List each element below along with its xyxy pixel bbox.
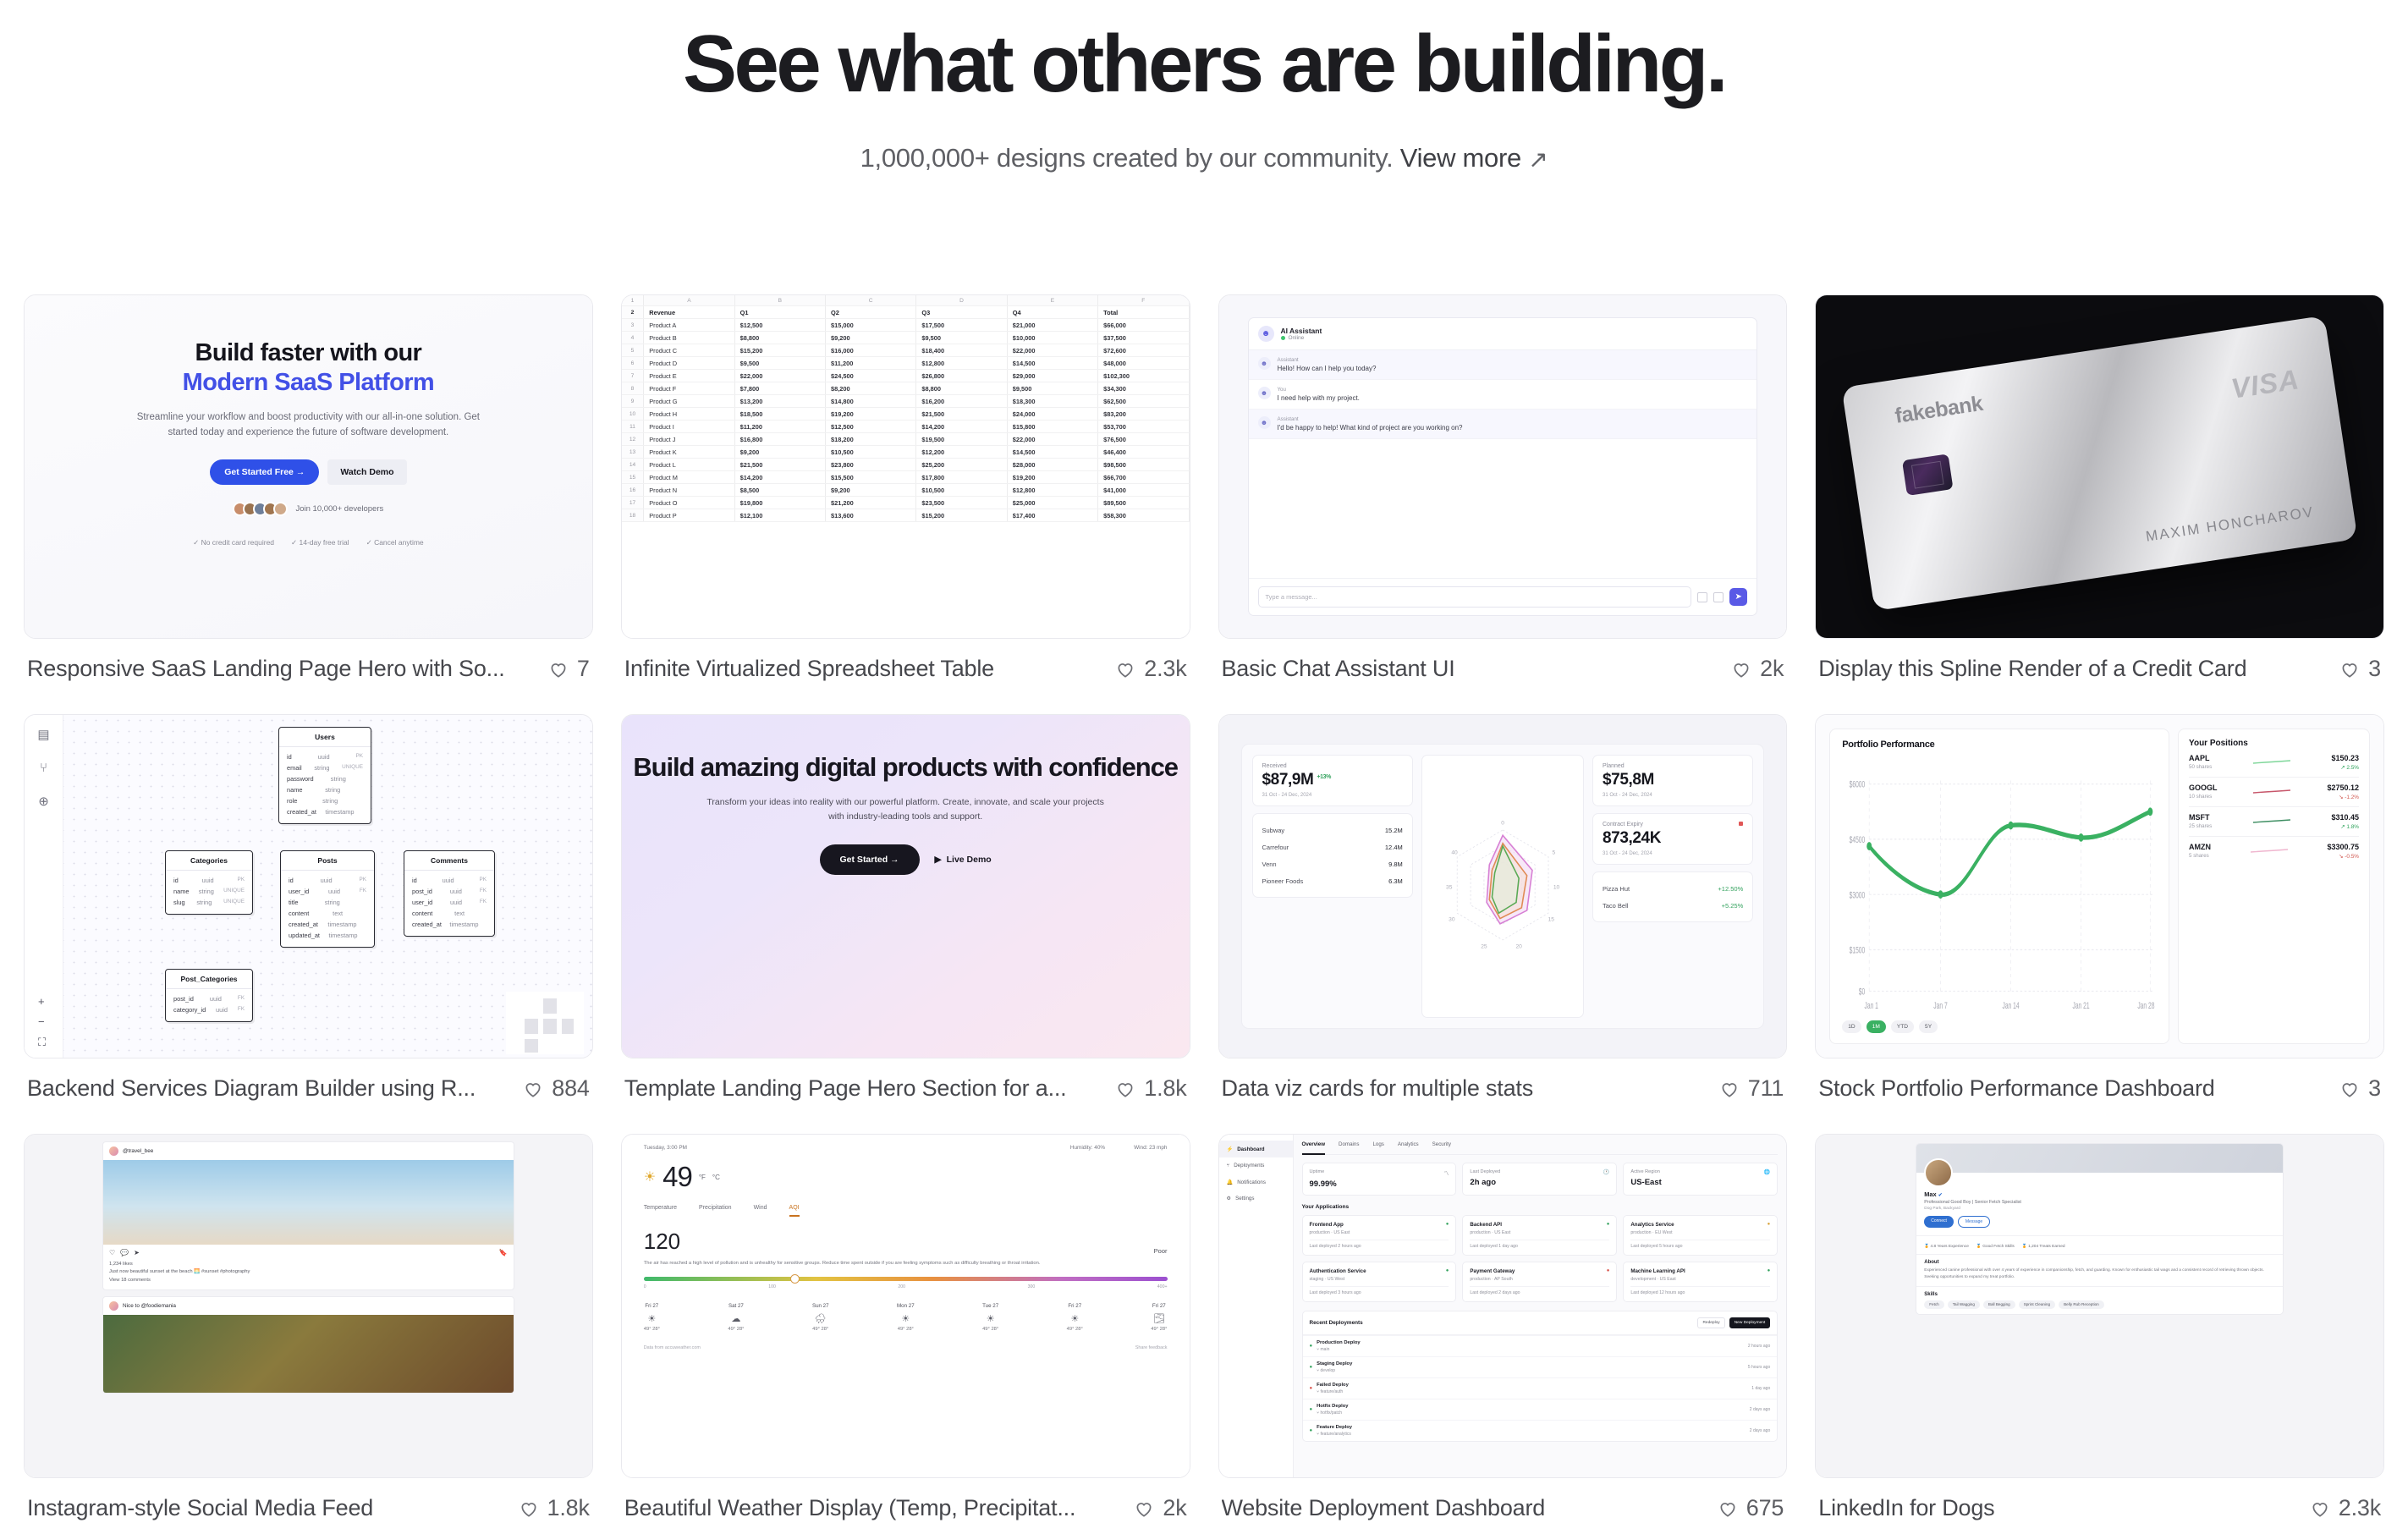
table-cell: $22,000: [1007, 433, 1097, 446]
deployment-row[interactable]: ●Failed Deploy⑂ feature/auth1 day ago: [1303, 1377, 1778, 1399]
heart-icon: [522, 1078, 544, 1100]
table-row[interactable]: 3Product A$12,500$15,000$17,500$21,000$6…: [622, 319, 1189, 332]
gallery-card[interactable]: ☻ AI Assistant Online ☻ Assistant Hello!…: [1218, 294, 1788, 706]
app-last-deploy: Last deployed 2 hours ago: [1310, 1240, 1449, 1249]
image-icon[interactable]: [1697, 592, 1707, 602]
svg-text:$1500: $1500: [1850, 945, 1866, 955]
table-cell: $76,500: [1098, 433, 1189, 446]
play-icon: ▶: [935, 855, 942, 865]
saas-primary-cta[interactable]: Get Started Free →: [210, 459, 319, 485]
svg-text:$3000: $3000: [1850, 890, 1866, 900]
er-field-list: iduuidPKnamestringUNIQUEslugstringUNIQUE: [166, 871, 252, 914]
heart-icon: [1114, 1078, 1136, 1100]
app-name: Authentication Service: [1310, 1268, 1366, 1274]
tab-analytics[interactable]: Analytics: [1398, 1141, 1419, 1148]
sidebar-item-notifications[interactable]: 🔔Notifications: [1219, 1174, 1293, 1190]
glp-primary-cta[interactable]: Get Started →: [820, 844, 920, 875]
robot-icon: ☻: [1258, 357, 1271, 370]
table-cell: $9,200: [826, 484, 916, 497]
connect-button[interactable]: Connect: [1924, 1216, 1954, 1228]
saas-tick-item: ✓ Cancel anytime: [366, 538, 424, 547]
table-cell: $98,500: [1098, 459, 1189, 471]
like-value: 1.8k: [1144, 1075, 1186, 1102]
deployment-time: 2 hours ago: [1748, 1344, 1770, 1349]
thumbnail-chat[interactable]: ☻ AI Assistant Online ☻ Assistant Hello!…: [1218, 294, 1788, 639]
weather-source: Data from accuweather.com: [644, 1345, 701, 1350]
table-row[interactable]: 5Product C$15,200$16,000$18,400$22,000$7…: [622, 344, 1189, 357]
table-header-cell: Q1: [734, 306, 825, 319]
position-symbol: MSFT: [2189, 813, 2212, 822]
card-title: Stock Portfolio Performance Dashboard: [1818, 1075, 2330, 1102]
message-text: I need help with my project.: [1278, 394, 1360, 402]
deployment-name: Feature Deploy: [1317, 1425, 1352, 1430]
table-cell: $46,400: [1098, 446, 1189, 459]
stat-label: Uptime: [1310, 1169, 1325, 1177]
chat-input[interactable]: Type a message...: [1258, 586, 1692, 608]
card-caption: Stock Portfolio Performance Dashboard 3: [1815, 1058, 2384, 1125]
forecast-date: Fri 27: [644, 1303, 660, 1309]
forecast-date: Sun 27: [812, 1303, 829, 1309]
table-row[interactable]: 7Product E$22,000$24,500$26,800$29,000$1…: [622, 370, 1189, 382]
unit-celsius[interactable]: °C: [712, 1174, 720, 1181]
table-cell: $16,200: [916, 395, 1007, 408]
table-cell: $102,300: [1098, 370, 1189, 382]
saas-tick-item: ✓ 14-day free trial: [291, 538, 349, 547]
er-table-post-categories[interactable]: Post_Categoriespost_iduuidFKcategory_idu…: [165, 969, 253, 1022]
hero-section: See what others are building. 1,000,000+…: [0, 0, 2408, 173]
table-cell: $66,700: [1098, 471, 1189, 484]
chat-bot-name: AI Assistant: [1281, 327, 1322, 335]
table-cell: $21,500: [916, 408, 1007, 421]
thumbnail-linkedin-dogs[interactable]: Max ✔ Professional Good Boy | Senior Fet…: [1815, 1134, 2384, 1478]
card-title: Infinite Virtualized Spreadsheet Table: [624, 656, 1107, 682]
app-name: Frontend App: [1310, 1222, 1344, 1228]
er-table-categories[interactable]: CategoriesiduuidPKnamestringUNIQUEslugst…: [165, 850, 253, 915]
card-title: Beautiful Weather Display (Temp, Precipi…: [624, 1495, 1125, 1521]
new-deployment-button[interactable]: New Deployment: [1729, 1317, 1771, 1328]
heart-icon[interactable]: ♡: [109, 1249, 115, 1256]
received-delta: +13%: [1317, 774, 1331, 780]
saas-headline-1: Build faster with our: [25, 339, 592, 367]
emv-chip-icon: [1902, 454, 1954, 496]
forecast-day: Sat 27☁49° 28°: [728, 1303, 744, 1332]
page-title: See what others are building.: [0, 22, 2408, 107]
chat-message: ☻ Assistant I'd be happy to help! What k…: [1249, 410, 1757, 439]
like-value: 884: [552, 1075, 589, 1102]
skill-chip: Sprint Cleaning: [2019, 1300, 2055, 1309]
application-card[interactable]: Payment Gateway●production · AP SouthLas…: [1462, 1262, 1617, 1302]
glp-secondary-cta[interactable]: ▶ Live Demo: [935, 855, 992, 865]
application-card[interactable]: Machine Learning API●development · US Ea…: [1623, 1262, 1778, 1302]
heart-icon: [1114, 658, 1136, 680]
table-row[interactable]: 12Product J$16,800$18,200$19,500$22,000$…: [622, 433, 1189, 446]
table-row[interactable]: 4Product B$8,800$9,200$9,500$10,000$37,5…: [622, 332, 1189, 344]
view-more-link[interactable]: View more: [1400, 143, 1521, 173]
gallery-card[interactable]: Received $87,9M+13% 31 Oct - 24 Dec, 202…: [1218, 714, 1788, 1125]
sparkline-icon: [2253, 818, 2290, 825]
application-card[interactable]: Backend API●production · US EastLast dep…: [1462, 1215, 1617, 1256]
table-row[interactable]: 14Product L$21,500$23,800$25,200$28,000$…: [622, 459, 1189, 471]
feed-post[interactable]: Nice to @foodiemania: [102, 1296, 514, 1394]
forecast-day: Tue 27☀49° 28°: [982, 1303, 998, 1332]
gallery-card[interactable]: ⚡Dashboard⑂Deployments🔔Notifications⚙Set…: [1218, 1134, 1788, 1523]
sidebar-item-dashboard[interactable]: ⚡Dashboard: [1219, 1141, 1293, 1157]
gallery-card[interactable]: Max ✔ Professional Good Boy | Senior Fet…: [1815, 1134, 2384, 1523]
stat-card: Last Deployed🕐2h ago: [1462, 1163, 1617, 1196]
svg-text:30: 30: [1449, 917, 1455, 923]
expiry-label: Contract Expiry: [1603, 822, 1743, 827]
table-row[interactable]: 11Product I$11,200$12,500$14,200$15,800$…: [622, 421, 1189, 433]
deployment-row[interactable]: ●Feature Deploy⑂ feature/analytics2 days…: [1303, 1420, 1778, 1441]
feed-post[interactable]: @travel_bee ♡ 💬 ➤ 🔖 1,234 likes Just now…: [102, 1141, 514, 1290]
aqi-description: The air has reached a high level of poll…: [644, 1260, 1168, 1268]
deployment-time: 2 days ago: [1750, 1428, 1770, 1433]
heart-icon: [1730, 658, 1752, 680]
range-ytd[interactable]: YTD: [1891, 1020, 1914, 1033]
table-cell: $18,300: [1007, 395, 1097, 408]
table-cell: $19,200: [826, 408, 916, 421]
aqi-value: 120: [644, 1229, 680, 1255]
deployment-time: 2 days ago: [1750, 1407, 1770, 1412]
like-count[interactable]: 1.8k: [1114, 1075, 1186, 1102]
table-cell: Product F: [644, 382, 734, 395]
tab-wind[interactable]: Wind: [754, 1205, 767, 1217]
table-row[interactable]: 15Product M$14,200$15,500$17,800$19,200$…: [622, 471, 1189, 484]
app-meta: development · US East: [1630, 1277, 1770, 1282]
card-title: Template Landing Page Hero Section for a…: [624, 1075, 1107, 1102]
dashboard-sidebar[interactable]: ⚡Dashboard⑂Deployments🔔Notifications⚙Set…: [1219, 1135, 1294, 1477]
sun-icon: ☀: [644, 1313, 660, 1324]
table-row[interactable]: 17Product O$19,800$21,200$23,500$25,000$…: [622, 497, 1189, 509]
table-cell: $14,500: [1007, 446, 1097, 459]
table-cell: $21,000: [1007, 319, 1097, 332]
application-card[interactable]: Authentication Service●staging · US West…: [1302, 1262, 1457, 1302]
gallery-card[interactable]: Build faster with our Modern SaaS Platfo…: [24, 294, 593, 706]
like-count[interactable]: 3: [2339, 656, 2381, 682]
position-symbol: AAPL: [2189, 754, 2212, 762]
expiry-value: 873,24K: [1603, 829, 1743, 848]
deployment-row[interactable]: ●Production Deploy⑂ main2 hours ago: [1303, 1335, 1778, 1356]
redeploy-button[interactable]: Redeploy: [1697, 1317, 1724, 1328]
stat-value: US-East: [1630, 1178, 1770, 1187]
svg-text:Jan 7: Jan 7: [1934, 1000, 1948, 1010]
share-feedback-link[interactable]: Share feedback: [1135, 1345, 1168, 1350]
diagram-zoom-controls[interactable]: + − ⛶: [38, 995, 46, 1049]
table-cell: $21,500: [734, 459, 825, 471]
status-badge: ●: [1310, 1365, 1313, 1370]
comment-icon[interactable]: 💬: [120, 1249, 129, 1256]
like-count[interactable]: 1.8k: [518, 1495, 590, 1521]
chat-status: Online: [1281, 335, 1322, 341]
post-actions[interactable]: ♡ 💬 ➤ 🔖: [103, 1245, 514, 1261]
table-cell: $22,000: [734, 370, 825, 382]
table-cell: Product L: [644, 459, 734, 471]
svg-text:10: 10: [1553, 885, 1560, 891]
table-cell: $8,500: [734, 484, 825, 497]
range-5y[interactable]: 5Y: [1919, 1020, 1938, 1033]
send-icon[interactable]: ➤: [1729, 588, 1747, 606]
gallery-card[interactable]: Portfolio Performance: [1815, 714, 2384, 1125]
unit-fahrenheit[interactable]: °F: [699, 1174, 706, 1181]
table-row[interactable]: 16Product N$8,500$9,200$10,500$12,800$41…: [622, 484, 1189, 497]
message-author: Assistant: [1278, 357, 1377, 363]
table-row[interactable]: 13Product K$9,200$10,500$12,200$14,500$4…: [622, 446, 1189, 459]
er-field-list: iduuidPKpost_iduuidFKuser_iduuidFKconten…: [404, 871, 494, 936]
portfolio-line-chart: $6000$4500 $3000$1500$0 Jan 1Jan 7Jan 14…: [1842, 756, 2157, 1015]
thumbnail-gradient-landing[interactable]: Build amazing digital products with conf…: [621, 714, 1190, 1058]
tab-aqi[interactable]: AQI: [789, 1205, 800, 1217]
table-cell: $53,700: [1098, 421, 1189, 433]
about-title: About: [1924, 1260, 2275, 1265]
like-value: 7: [577, 656, 590, 682]
deployment-row[interactable]: ●Staging Deploy⑂ develop5 hours ago: [1303, 1356, 1778, 1377]
saas-tick-list: ✓ No credit card required ✓ 14-day free …: [25, 538, 592, 547]
app-name: Backend API: [1470, 1222, 1502, 1228]
cloud-icon: ☁: [728, 1313, 744, 1324]
er-field: titlestring: [281, 897, 374, 908]
app-meta: production · US East: [1310, 1230, 1449, 1235]
app-last-deploy: Last deployed 3 hours ago: [1310, 1286, 1449, 1295]
deployment-row[interactable]: ●Hotfix Deploy⑂ hotfix/patch2 days ago: [1303, 1399, 1778, 1420]
saas-body: Streamline your workflow and boost produ…: [121, 410, 496, 441]
like-count[interactable]: 2k: [1133, 1495, 1186, 1521]
position-price: $2750.12: [2327, 783, 2359, 792]
er-table-posts[interactable]: PostsiduuidPKuser_iduuidFKtitlestringcon…: [280, 850, 375, 948]
application-card[interactable]: Analytics Service●production · EU WestLa…: [1623, 1215, 1778, 1256]
thumbnail-spreadsheet[interactable]: 1 A B C D E F 2RevenueQ1Q2Q3Q4Total3Prod…: [621, 294, 1190, 639]
alert-dot-icon: [1739, 822, 1743, 826]
card-caption: Basic Chat Assistant UI 2k: [1218, 639, 1788, 706]
received-value: $87,9M+13%: [1262, 771, 1403, 789]
stat-card: Active Region🌐US-East: [1623, 1163, 1778, 1196]
table-header-cell: Q2: [826, 306, 916, 319]
er-table-users[interactable]: UsersiduuidPKemailstringUNIQUEpasswordst…: [278, 727, 371, 824]
table-row[interactable]: 10Product H$18,500$19,200$21,500$24,000$…: [622, 408, 1189, 421]
table-row[interactable]: 9Product G$13,200$14,800$16,200$18,300$6…: [622, 395, 1189, 408]
like-count[interactable]: 2.3k: [2309, 1495, 2381, 1521]
thumbnail-er-diagram[interactable]: ▤ ⑂ ⊕ UsersiduuidPKemailstringUNIQUEpass…: [24, 714, 593, 1058]
deployment-time: 1 day ago: [1751, 1386, 1770, 1391]
gallery-card[interactable]: fakebank VISA MAXIM HONCHAROV Display th…: [1815, 294, 2384, 706]
table-cell: $9,200: [734, 446, 825, 459]
share-icon[interactable]: ➤: [134, 1249, 140, 1256]
card-title: Backend Services Diagram Builder using R…: [27, 1075, 514, 1102]
avatar: [1924, 1158, 1953, 1187]
card-caption: Data viz cards for multiple stats 711: [1218, 1058, 1788, 1125]
svg-text:$4500: $4500: [1850, 834, 1866, 844]
tab-logs[interactable]: Logs: [1372, 1141, 1383, 1148]
aqi-marker: [790, 1274, 800, 1284]
table-cell: $18,500: [734, 408, 825, 421]
portfolio-chart-svg: $6000$4500 $3000$1500$0 Jan 1Jan 7Jan 14…: [1842, 756, 2157, 1015]
zoom-out-icon[interactable]: −: [38, 1015, 46, 1028]
card-caption: Beautiful Weather Display (Temp, Precipi…: [621, 1478, 1190, 1523]
gallery-card[interactable]: Tuesday, 3:00 PM Humidity: 40% Wind: 23 …: [621, 1134, 1190, 1523]
table-header-cell: Total: [1098, 306, 1189, 319]
sidebar-item-deployments[interactable]: ⑂Deployments: [1219, 1157, 1293, 1174]
profile-badge: 🏅 4.8 Years Experience: [1924, 1245, 1969, 1249]
table-cell: $12,800: [916, 357, 1007, 370]
svg-text:25: 25: [1481, 943, 1487, 949]
er-field: post_iduuidFK: [166, 993, 252, 1004]
recent-title: Recent Deployments: [1310, 1320, 1363, 1326]
position-row[interactable]: AAPL50 shares$150.23↗ 2.5%: [2189, 748, 2359, 777]
gallery-card[interactable]: ▤ ⑂ ⊕ UsersiduuidPKemailstringUNIQUEpass…: [24, 714, 593, 1125]
stat-value: 99.99%: [1310, 1179, 1449, 1189]
table-row[interactable]: 18Product P$12,100$13,600$15,200$17,400$…: [622, 509, 1189, 522]
status-badge: ●: [1607, 1222, 1610, 1228]
heart-icon: [1718, 1078, 1740, 1100]
thumbnail-credit-card[interactable]: fakebank VISA MAXIM HONCHAROV: [1815, 294, 2384, 639]
col-letter: D: [916, 295, 1007, 306]
col-letter: A: [644, 295, 734, 306]
thumbnail-stock-dashboard[interactable]: Portfolio Performance: [1815, 714, 2384, 1058]
branch-icon: ⑂: [1227, 1163, 1230, 1168]
tab-temperature[interactable]: Temperature: [644, 1205, 677, 1217]
gallery-grid: Build faster with our Modern SaaS Platfo…: [24, 294, 2384, 1523]
thumbnail-instagram-feed[interactable]: @travel_bee ♡ 💬 ➤ 🔖 1,234 likes Just now…: [24, 1134, 593, 1478]
position-row[interactable]: GOOGL10 shares$2750.12↘ -1.2%: [2189, 777, 2359, 806]
er-field: namestringUNIQUE: [166, 886, 252, 897]
forecast-temps: 49° 28°: [897, 1327, 915, 1332]
like-value: 711: [1748, 1075, 1784, 1102]
diagram-minimap[interactable]: [506, 992, 584, 1054]
range-1m[interactable]: 1M: [1866, 1020, 1886, 1033]
dashboard-tabs[interactable]: OverviewDomainsLogsAnalyticsSecurity: [1302, 1141, 1779, 1155]
like-count[interactable]: 884: [522, 1075, 589, 1102]
col-letter: E: [1007, 295, 1097, 306]
table-cell: $8,800: [734, 332, 825, 344]
deployment-time: 5 hours ago: [1748, 1365, 1770, 1370]
er-field: contenttext: [281, 908, 374, 919]
position-row[interactable]: MSFT25 shares$310.45↗ 1.8%: [2189, 806, 2359, 836]
table-cell: $15,200: [916, 509, 1007, 522]
thumbnail-deployment-dashboard[interactable]: ⚡Dashboard⑂Deployments🔔Notifications⚙Set…: [1218, 1134, 1788, 1478]
col-letter: C: [826, 295, 916, 306]
thumbnail-dataviz[interactable]: Received $87,9M+13% 31 Oct - 24 Dec, 202…: [1218, 714, 1788, 1058]
tab-precipitation[interactable]: Precipitation: [699, 1205, 732, 1217]
application-cards[interactable]: Frontend App●production · US EastLast de…: [1302, 1215, 1779, 1302]
range-selector[interactable]: 1D1MYTD5Y: [1842, 1020, 2157, 1033]
bookmark-icon[interactable]: 🔖: [499, 1249, 508, 1256]
add-node-icon[interactable]: ⊕: [38, 794, 49, 809]
table-header-cell: Q3: [916, 306, 1007, 319]
position-shares: 10 shares: [2189, 794, 2218, 800]
thumbnail-saas-hero[interactable]: Build faster with our Modern SaaS Platfo…: [24, 294, 593, 639]
table-col-letters: 1 A B C D E F: [622, 295, 1189, 306]
table-cell: Product A: [644, 319, 734, 332]
like-count[interactable]: 2.3k: [1114, 656, 1186, 682]
er-table-comments[interactable]: CommentsiduuidPKpost_iduuidFKuser_iduuid…: [404, 850, 495, 937]
gallery-card[interactable]: @travel_bee ♡ 💬 ➤ 🔖 1,234 likes Just now…: [24, 1134, 593, 1523]
position-row[interactable]: AMZN5 shares$3300.75↘ -0.5%: [2189, 836, 2359, 866]
apps-title: Your Applications: [1302, 1204, 1779, 1210]
post-user: Nice to @foodiemania: [123, 1303, 176, 1309]
forecast-temps: 49° 28°: [1067, 1327, 1083, 1332]
spreadsheet-table[interactable]: 1 A B C D E F 2RevenueQ1Q2Q3Q4Total3Prod…: [622, 295, 1190, 522]
table-row[interactable]: 8Product F$7,800$8,200$8,800$9,500$34,30…: [622, 382, 1189, 395]
card-holder-name: MAXIM HONCHAROV: [2145, 503, 2316, 545]
card-caption: Display this Spline Render of a Credit C…: [1815, 639, 2384, 706]
table-row[interactable]: 6Product D$9,500$11,200$12,800$14,500$48…: [622, 357, 1189, 370]
planned-label: Planned: [1603, 763, 1743, 769]
zoom-in-icon[interactable]: +: [38, 995, 46, 1008]
thumbnail-weather[interactable]: Tuesday, 3:00 PM Humidity: 40% Wind: 23 …: [621, 1134, 1190, 1478]
skill-chip: Fetch: [1924, 1300, 1944, 1309]
tab-domains[interactable]: Domains: [1339, 1141, 1359, 1148]
save-icon[interactable]: ▤: [37, 727, 49, 742]
svg-text:Jan 14: Jan 14: [2003, 1000, 2020, 1010]
post-meta: 1,234 likes Just now beautiful sunset at…: [103, 1261, 514, 1289]
branch-icon[interactable]: ⑂: [40, 761, 47, 775]
table-cell: $29,000: [1007, 370, 1097, 382]
table-cell: $21,200: [826, 497, 916, 509]
like-count[interactable]: 2k: [1730, 656, 1784, 682]
tab-security[interactable]: Security: [1432, 1141, 1451, 1148]
sidebar-item-settings[interactable]: ⚙Settings: [1219, 1190, 1293, 1207]
table-cell: $14,500: [1007, 357, 1097, 370]
sparkline-icon: [2253, 789, 2290, 795]
card-title: Display this Spline Render of a Credit C…: [1818, 656, 2330, 682]
like-count[interactable]: 7: [547, 656, 590, 682]
post-comments-link[interactable]: View 18 comments: [109, 1277, 508, 1284]
like-count[interactable]: 711: [1718, 1075, 1784, 1102]
position-change: ↘ -0.5%: [2327, 853, 2359, 860]
post-caption: Just now beautiful sunset at the beach 🌅…: [109, 1268, 508, 1276]
like-value: 2k: [1163, 1495, 1186, 1521]
fit-screen-icon[interactable]: ⛶: [38, 1036, 46, 1049]
er-field-list: post_iduuidFKcategory_iduuidFK: [166, 989, 252, 1021]
like-count[interactable]: 3: [2339, 1075, 2381, 1102]
brand-list: Subway15.2MCarrefour12.4MVenn9.8MPioneer…: [1252, 813, 1413, 898]
position-price: $150.23: [2331, 754, 2359, 762]
table-cell: $18,200: [826, 433, 916, 446]
table-cell: Product J: [644, 433, 734, 446]
glp-headline: Build amazing digital products with conf…: [622, 752, 1190, 782]
card-caption: Website Deployment Dashboard 675: [1218, 1478, 1788, 1523]
profile-badge: 🏅 Good Fetch Skills: [1976, 1245, 2015, 1249]
weather-forecast: Fri 27☀49° 28°Sat 27☁49° 28°Sun 27🌧49° 2…: [644, 1303, 1168, 1332]
like-value: 3: [2368, 656, 2381, 682]
saas-secondary-cta[interactable]: Watch Demo: [327, 459, 406, 485]
glp-body: Transform your ideas into reality with o…: [701, 795, 1110, 824]
tab-overview[interactable]: Overview: [1302, 1141, 1326, 1155]
weather-tabs[interactable]: Temperature Precipitation Wind AQI: [644, 1205, 1168, 1217]
application-card[interactable]: Frontend App●production · US EastLast de…: [1302, 1215, 1457, 1256]
gallery-card[interactable]: 1 A B C D E F 2RevenueQ1Q2Q3Q4Total3Prod…: [621, 294, 1190, 706]
table-cell: $24,500: [826, 370, 916, 382]
forecast-date: Fri 27: [1067, 1303, 1083, 1309]
gallery-card[interactable]: Build amazing digital products with conf…: [621, 714, 1190, 1125]
message-button[interactable]: Message: [1958, 1216, 1990, 1228]
range-1d[interactable]: 1D: [1842, 1020, 1861, 1033]
positions-list: AAPL50 shares$150.23↗ 2.5%GOOGL10 shares…: [2189, 748, 2359, 866]
heart-icon: [2309, 1498, 2331, 1520]
er-field: iduuidPK: [166, 875, 252, 886]
table-cell: $17,400: [1007, 509, 1097, 522]
svg-text:40: 40: [1451, 849, 1458, 855]
table-cell: $66,000: [1098, 319, 1189, 332]
er-field: iduuidPK: [279, 751, 371, 762]
table-cell: $12,500: [826, 421, 916, 433]
deployment-branch: ⑂ develop: [1317, 1368, 1352, 1373]
brand-row: Subway15.2M: [1262, 822, 1403, 838]
emoji-icon[interactable]: [1713, 592, 1724, 602]
card-title: Basic Chat Assistant UI: [1222, 656, 1723, 682]
skills-title: Skills: [1924, 1292, 2275, 1297]
svg-text:0: 0: [1501, 821, 1504, 827]
like-count[interactable]: 675: [1717, 1495, 1784, 1521]
